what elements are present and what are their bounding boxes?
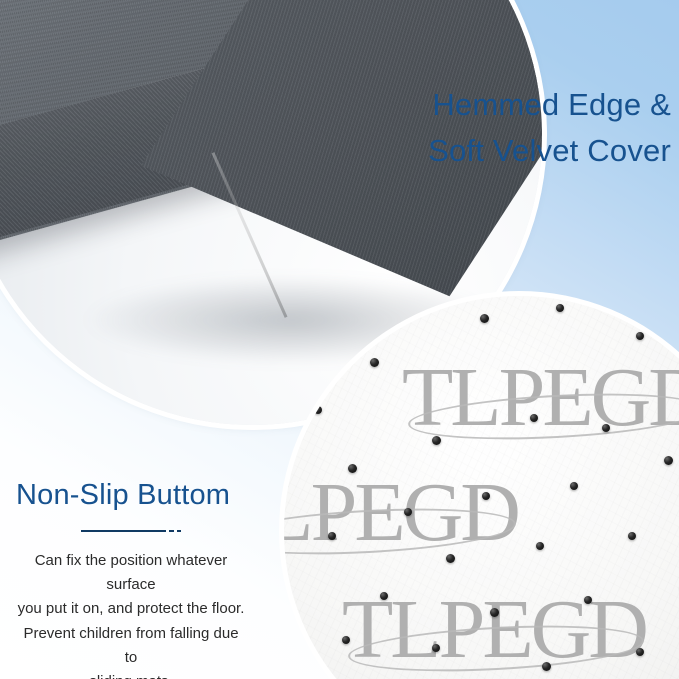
- heading-divider: [0, 527, 262, 537]
- non-slip-dot: [482, 492, 490, 500]
- non-slip-heading: Non-Slip Buttom: [0, 478, 262, 513]
- non-slip-body-line: Prevent children from falling due to: [16, 622, 246, 671]
- non-slip-dot: [432, 436, 441, 445]
- hemmed-edge-heading-line-2: Soft Velvet Cover: [428, 128, 671, 174]
- non-slip-dot: [490, 608, 499, 617]
- non-slip-dot: [446, 554, 455, 563]
- non-slip-body-text: Can fix the position whatever surface yo…: [0, 549, 262, 679]
- non-slip-dot: [556, 304, 564, 312]
- hemmed-edge-heading-line-1: Hemmed Edge &: [428, 82, 671, 128]
- non-slip-dot: [432, 644, 440, 652]
- non-slip-body-line: sliding mats.: [16, 670, 246, 679]
- non-slip-dot: [530, 414, 538, 422]
- non-slip-dot: [628, 532, 636, 540]
- brand-wordmark: TLPEGD: [284, 471, 518, 555]
- non-slip-dot: [328, 532, 336, 540]
- non-slip-dot: [542, 662, 551, 671]
- non-slip-dot: [348, 464, 357, 473]
- brand-wordmark: TLPEGD: [402, 356, 679, 440]
- non-slip-body-line: Can fix the position whatever surface: [16, 549, 246, 598]
- product-feature-graphic: TLPEGD TLPEGD TLPEGD Hemmed Edge & Soft …: [0, 0, 679, 679]
- divider-dash-2: [177, 530, 181, 532]
- non-slip-dot: [584, 596, 592, 604]
- non-slip-dot: [380, 592, 388, 600]
- non-slip-dot: [636, 648, 644, 656]
- non-slip-dot: [570, 482, 578, 490]
- non-slip-dot: [342, 636, 350, 644]
- non-slip-photo-circle: TLPEGD TLPEGD TLPEGD: [284, 296, 679, 679]
- divider-dash-1: [169, 530, 174, 532]
- non-slip-dot: [536, 542, 544, 550]
- hemmed-edge-heading: Hemmed Edge & Soft Velvet Cover: [428, 82, 671, 174]
- non-slip-dot: [602, 424, 610, 432]
- non-slip-dot: [370, 358, 379, 367]
- non-slip-feature-block: Non-Slip Buttom Can fix the position wha…: [0, 478, 262, 679]
- non-slip-fabric-backdrop: TLPEGD TLPEGD TLPEGD: [284, 296, 679, 679]
- non-slip-body-line: you put it on, and protect the floor.: [16, 597, 246, 621]
- non-slip-dot: [636, 332, 644, 340]
- non-slip-dot: [664, 456, 673, 465]
- brand-wordmark: TLPEGD: [342, 588, 646, 672]
- non-slip-dot: [480, 314, 489, 323]
- divider-main-segment: [81, 530, 166, 532]
- non-slip-dot: [314, 406, 322, 414]
- non-slip-dot: [404, 508, 412, 516]
